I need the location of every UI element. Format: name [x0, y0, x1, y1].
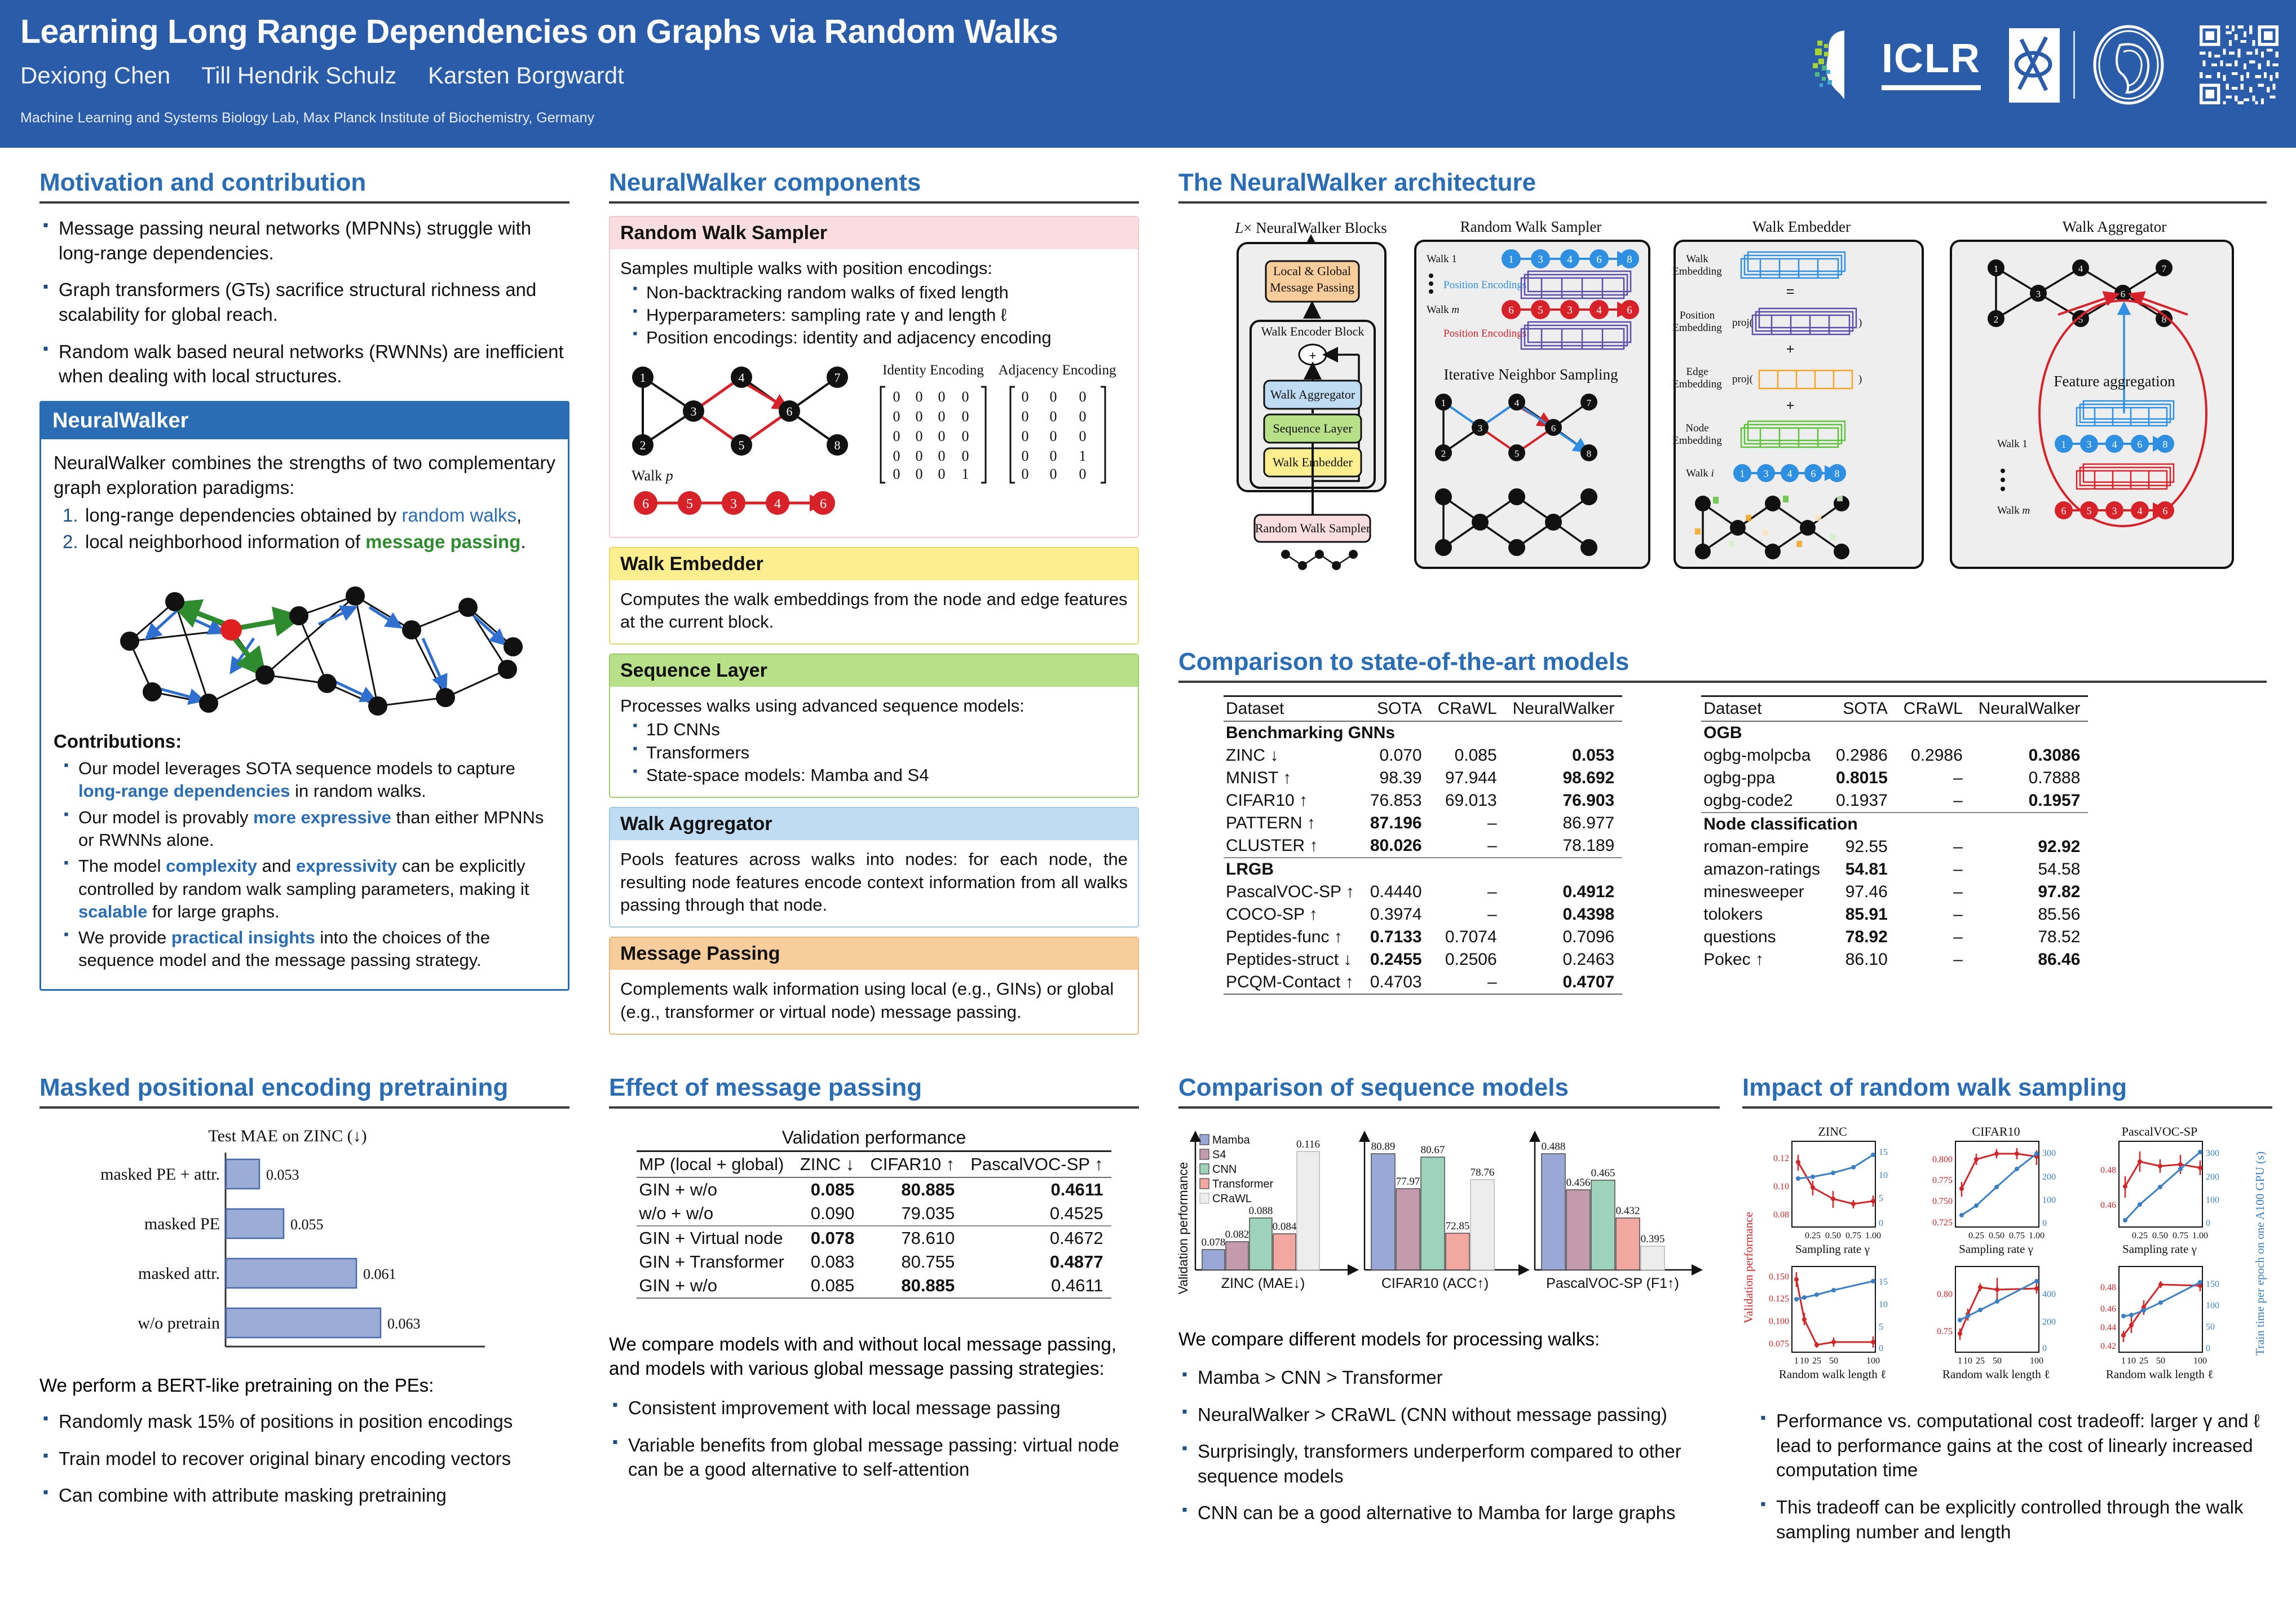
x-axis-label: Random walk length ℓ [1942, 1367, 2050, 1381]
table-row: PascalVOC-SP ↑0.4440–0.4912 [1224, 881, 1622, 903]
x-tick: 1 [1794, 1356, 1799, 1366]
svg-text:proj(: proj( [1732, 317, 1753, 329]
svg-text:6: 6 [1627, 304, 1632, 316]
random-walk-illustration [62, 562, 547, 726]
svg-text:0: 0 [916, 428, 923, 444]
svg-text:Embedding: Embedding [1672, 322, 1722, 334]
svg-text:4: 4 [2112, 439, 2117, 450]
operator-plus-2: + [1786, 398, 1795, 413]
bar-value: 0.053 [266, 1167, 299, 1183]
col-header: SOTA [1362, 696, 1430, 722]
svg-text:1: 1 [2061, 439, 2067, 450]
svg-text:0.42: 0.42 [2100, 1341, 2116, 1351]
x-tick: 25 [1812, 1356, 1821, 1366]
group-header: Node classification [1701, 813, 2088, 836]
x-tick: 1.00 [2029, 1231, 2045, 1241]
architecture-diagram: L× NeuralWalker Blocks Local & Global Me… [1178, 216, 2267, 577]
svg-text:0: 0 [1022, 389, 1029, 405]
svg-text:0: 0 [962, 428, 969, 444]
x-axis-label: ZINC (MAE↓) [1221, 1276, 1305, 1291]
svg-text:8: 8 [1627, 254, 1632, 266]
x-axis-label: Sampling rate γ [1959, 1242, 2033, 1256]
svg-text:3: 3 [2036, 289, 2041, 299]
table-row: Peptides-func ↑0.71330.70740.7096 [1224, 926, 1622, 948]
svg-text:7: 7 [2162, 263, 2167, 274]
chart-panel-cifar-gamma: CIFAR10 0.7250.7500.7750.800 0100200300 [1932, 1124, 2056, 1256]
svg-text:Embedding: Embedding [1672, 378, 1722, 390]
block-label-sequence: Sequence Layer [1273, 421, 1353, 435]
title-rule [609, 1106, 1139, 1109]
svg-text:0: 0 [893, 428, 900, 444]
panel-title-aggregator: Walk Aggregator [2063, 218, 2167, 235]
svg-text:0: 0 [962, 408, 969, 425]
svg-text:8: 8 [834, 438, 841, 452]
svg-text:0: 0 [893, 466, 900, 482]
panel-title: CIFAR10 [1972, 1124, 2020, 1138]
svg-text:0: 0 [2042, 1344, 2047, 1353]
group-header: Benchmarking GNNs [1224, 721, 1622, 744]
svg-text:0.750: 0.750 [1932, 1197, 1953, 1206]
svg-text:5: 5 [686, 497, 693, 511]
bar-label: masked PE [144, 1215, 220, 1233]
component-body: Pools features across walks into nodes: … [610, 840, 1138, 926]
table-row: GIN + Transformer0.08380.7550.4877 [637, 1250, 1111, 1274]
list-item: Transformers [630, 742, 1128, 764]
legend-item: CRaWL [1212, 1193, 1252, 1205]
svg-text:6: 6 [2061, 505, 2067, 517]
col-header: ZINC ↓ [792, 1151, 862, 1178]
x-axis-label: Random walk length ℓ [2106, 1367, 2213, 1381]
list-item: Hyperparameters: sampling rate γ and len… [630, 304, 1128, 326]
panel-subtitle-neighbor-sampling: Iterative Neighbor Sampling [1444, 366, 1618, 383]
author-list: Dexiong Chen Till Hendrik Schulz Karsten… [20, 62, 649, 89]
walk1-label: Walk 1 [1427, 253, 1457, 265]
component-body: Complements walk information using local… [610, 970, 1138, 1034]
col-header: SOTA [1828, 696, 1896, 722]
section-masked-pe: Masked positional encoding pretraining T… [39, 1074, 569, 1520]
bar-value: 77.97 [1396, 1176, 1420, 1188]
block-label-aggregator: Walk Aggregator [1270, 387, 1355, 401]
walk-embedding-label: Walk [1686, 253, 1708, 265]
table-row: roman-empire92.55–92.92 [1701, 836, 2088, 858]
svg-text:0.725: 0.725 [1932, 1218, 1953, 1228]
svg-text:0.48: 0.48 [2100, 1166, 2116, 1175]
svg-text:50: 50 [2206, 1322, 2215, 1332]
table-row: minesweeper97.46–97.82 [1701, 881, 2088, 903]
section-title-sequence-models: Comparison of sequence models [1178, 1074, 1720, 1101]
svg-text:0: 0 [938, 428, 946, 444]
svg-text:100: 100 [2206, 1195, 2219, 1205]
list-item: Mamba > CNN > Transformer [1178, 1365, 1720, 1390]
svg-text:proj(: proj( [1732, 373, 1753, 385]
x-tick: 0.25 [1968, 1231, 1984, 1241]
svg-text:0.48: 0.48 [2100, 1283, 2116, 1292]
svg-text:Embedding: Embedding [1672, 266, 1722, 277]
svg-text:0: 0 [916, 466, 923, 482]
svg-text:7: 7 [1587, 398, 1592, 408]
svg-text:1: 1 [640, 370, 646, 385]
svg-text:0: 0 [1079, 466, 1087, 482]
svg-text:0: 0 [1022, 428, 1029, 444]
svg-text:7: 7 [834, 370, 841, 385]
feature-aggregation-label: Feature aggregation [2054, 373, 2175, 390]
x-axis-label: CIFAR10 (ACC↑) [1381, 1276, 1489, 1291]
walk-i-label: Walk i [1686, 467, 1714, 479]
bar-label: masked PE + attr. [100, 1165, 220, 1184]
svg-text:0: 0 [1050, 466, 1057, 482]
poster-header: Learning Long Range Dependencies on Grap… [0, 0, 2296, 148]
svg-text:4: 4 [1515, 398, 1520, 408]
section-sequence-models: Comparison of sequence models Validation… [1178, 1074, 1720, 1538]
section-title-comparison: Comparison to state-of-the-art models [1178, 648, 2267, 676]
table-row: ogbg-ppa0.8015–0.7888 [1701, 767, 2088, 789]
svg-text:0: 0 [1022, 466, 1029, 482]
svg-text:0.44: 0.44 [2100, 1323, 2116, 1332]
svg-text:0: 0 [962, 389, 969, 405]
section-title-components: NeuralWalker components [609, 169, 1139, 196]
x-tick: 10 [1963, 1356, 1972, 1366]
svg-text:400: 400 [2042, 1290, 2056, 1299]
component-intro: Samples multiple walks with position enc… [620, 257, 1128, 280]
panel-title-embedder: Walk Embedder [1752, 218, 1851, 235]
bar-value: 0.061 [363, 1266, 396, 1282]
x-tick: 0.25 [1805, 1231, 1821, 1241]
list-item: local neighborhood information of messag… [54, 529, 555, 554]
table-row: Peptides-struct ↓0.24550.25060.2463 [1224, 948, 1622, 971]
svg-text:0: 0 [938, 466, 946, 482]
bar-value: 72.85 [1446, 1220, 1470, 1232]
section-title-architecture: The NeuralWalker architecture [1178, 169, 2267, 196]
x-tick: 0.50 [2152, 1231, 2168, 1241]
table-row: MNIST ↑98.3997.94498.692 [1224, 767, 1622, 789]
poster-root: Learning Long Range Dependencies on Grap… [0, 0, 2296, 1624]
svg-text:6: 6 [642, 497, 649, 511]
y-axis-label: Validation performance [1178, 1162, 1190, 1295]
svg-text:6: 6 [820, 497, 827, 511]
svg-text:0: 0 [1050, 389, 1057, 405]
page-title: Learning Long Range Dependencies on Grap… [20, 12, 1058, 51]
svg-text:+: + [1309, 348, 1317, 363]
callout-intro: NeuralWalker combines the strengths of t… [54, 451, 555, 500]
masked-pe-bullets: Randomly mask 15% of positions in positi… [39, 1409, 569, 1508]
neuralwalker-callout: NeuralWalker NeuralWalker combines the s… [39, 401, 569, 991]
svg-text:0.075: 0.075 [1769, 1339, 1789, 1349]
message-passing-bullets: Consistent improvement with local messag… [609, 1396, 1139, 1482]
qr-code-icon [2197, 23, 2281, 107]
x-axis-label: Sampling rate γ [2122, 1242, 2197, 1256]
group-header: OGB [1701, 721, 2088, 744]
table-row: tolokers85.91–85.56 [1701, 903, 2088, 926]
chart-sampling-lines: Validation performance Train time per ep… [1742, 1121, 2272, 1386]
logo-strip: ICLR [1812, 17, 2281, 113]
sampling-bullets: Performance vs. computational cost trade… [1757, 1409, 2272, 1544]
svg-text:200: 200 [2206, 1172, 2219, 1182]
svg-text:0.125: 0.125 [1769, 1294, 1789, 1304]
list-item: The model complexity and expressivity ca… [61, 855, 555, 923]
svg-text:0: 0 [916, 389, 923, 405]
bar-value: 0.084 [1273, 1221, 1297, 1233]
svg-text:3: 3 [2087, 439, 2092, 450]
bar-value: 0.082 [1225, 1229, 1249, 1241]
sequence-models-bullets: Mamba > CNN > Transformer NeuralWalker >… [1178, 1365, 1720, 1525]
contributions-title: Contributions: [54, 729, 555, 754]
legend-item: Transformer [1212, 1178, 1274, 1190]
svg-text:3: 3 [1764, 468, 1769, 479]
svg-text:0.150: 0.150 [1769, 1272, 1789, 1282]
bar-value: 0.078 [1202, 1237, 1226, 1248]
x-axis-label: Random walk length ℓ [1779, 1367, 1886, 1381]
svg-text:0.80: 0.80 [1937, 1290, 1953, 1299]
svg-text:6: 6 [1551, 423, 1556, 434]
affiliation: Machine Learning and Systems Biology Lab… [20, 110, 594, 126]
message-passing-intro: We compare models with and without local… [609, 1332, 1139, 1381]
svg-text:6: 6 [2138, 439, 2143, 450]
svg-text:0: 0 [1079, 408, 1087, 425]
table-row: GIN + Virtual node0.07878.6100.4672 [637, 1226, 1111, 1250]
svg-text:0: 0 [1050, 448, 1057, 464]
section-sampling: Impact of random walk sampling Validatio… [1742, 1074, 2272, 1556]
comparison-table-left: Dataset SOTA CRaWL NeuralWalker Benchmar… [1224, 695, 1622, 995]
component-title: Random Walk Sampler [610, 217, 1138, 249]
svg-text:0: 0 [1050, 428, 1057, 444]
svg-text:0: 0 [1022, 448, 1029, 464]
list-item: Performance vs. computational cost trade… [1757, 1409, 2272, 1482]
svg-text:2: 2 [1994, 314, 1999, 325]
svg-text:5: 5 [1879, 1194, 1883, 1203]
walk-encoder-block-label: Walk Encoder Block [1261, 324, 1365, 338]
svg-text:0: 0 [2206, 1344, 2210, 1353]
legend-item: Mamba [1212, 1134, 1251, 1146]
svg-text:0: 0 [938, 448, 946, 464]
svg-text:0: 0 [1879, 1344, 1883, 1353]
svg-text:6: 6 [1811, 468, 1816, 479]
operator-equals: = [1786, 284, 1795, 299]
title-rule [39, 201, 569, 204]
adjacency-encoding-title: Adjacency Encoding [999, 363, 1116, 378]
component-title: Walk Aggregator [610, 808, 1138, 840]
author-1: Dexiong Chen [20, 62, 170, 89]
table-row: PATTERN ↑87.196–86.977 [1224, 812, 1622, 835]
svg-text:1: 1 [1740, 468, 1745, 479]
bar-value: 0.116 [1296, 1138, 1320, 1150]
table-row: ogbg-code20.1937–0.1957 [1701, 789, 2088, 813]
svg-text:1: 1 [1079, 448, 1087, 464]
mpi-logo [2007, 23, 2171, 107]
x-tick: 100 [2193, 1356, 2207, 1366]
title-rule [609, 201, 1139, 204]
list-item: Our model is provably more expressive th… [61, 806, 555, 852]
chart-panel-zinc-length: 0.0750.1000.1250.150 051015 11025 50100 … [1769, 1266, 1888, 1381]
x-tick: 1 [1958, 1356, 1962, 1366]
svg-text:200: 200 [2042, 1172, 2056, 1182]
component-box-message-passing: Message Passing Complements walk informa… [609, 937, 1139, 1035]
col-header: CRaWL [1896, 696, 1971, 722]
x-axis-label: Sampling rate γ [1795, 1242, 1870, 1256]
operator-plus-1: + [1786, 341, 1795, 357]
svg-text:2: 2 [640, 438, 646, 452]
contributions-list: Our model leverages SOTA sequence models… [61, 757, 555, 972]
table-caption: Validation performance [637, 1126, 1111, 1151]
x-tick: 0.75 [1845, 1231, 1861, 1241]
highlight-random-walks: random walks [401, 505, 516, 526]
component-box-random-walk-sampler: Random Walk Sampler Samples multiple wal… [609, 216, 1139, 537]
sequence-models-intro: We compare different models for processi… [1178, 1327, 1720, 1352]
svg-text:0: 0 [1022, 408, 1029, 425]
svg-text:0: 0 [2042, 1219, 2047, 1228]
svg-text:15: 15 [1879, 1148, 1888, 1157]
callout-title: NeuralWalker [41, 403, 568, 439]
chart-panel-pascalvoc: 0.4880.456 0.4650.432 0.395 PascalVOC-SP… [1535, 1133, 1700, 1291]
list-item: Position encodings: identity and adjacen… [630, 326, 1128, 349]
highlight-message-passing: message passing [365, 531, 520, 552]
list-item: Random walk based neural networks (RWNNs… [39, 339, 569, 389]
svg-text:1: 1 [1994, 263, 1999, 274]
svg-text:5: 5 [2087, 505, 2092, 517]
y-axis-label-right: Train time per epoch on one A100 GPU (s) [2253, 1151, 2267, 1356]
col-header: MP (local + global) [637, 1151, 792, 1178]
svg-text:0.775: 0.775 [1932, 1176, 1953, 1185]
chart-panel-zinc-gamma: ZINC 0.080.100.12 051015 0.250.50 [1773, 1124, 1888, 1256]
walk-label: Walk p [632, 467, 673, 484]
x-tick: 1.00 [1865, 1231, 1881, 1241]
svg-text:0: 0 [2206, 1219, 2210, 1228]
svg-text:0: 0 [893, 448, 900, 464]
section-motivation: Motivation and contribution Message pass… [39, 169, 569, 991]
svg-text:0.08: 0.08 [1773, 1210, 1789, 1220]
chart-masked-pe-bar: Test MAE on ZINC (↓) masked PE + attr. 0… [39, 1121, 569, 1363]
table-row: CIFAR10 ↑76.85369.01376.903 [1224, 789, 1622, 812]
legend-item: S4 [1212, 1149, 1226, 1161]
node-embedding-label: Node [1685, 422, 1708, 434]
svg-text:0.10: 0.10 [1773, 1182, 1789, 1191]
component-box-sequence-layer: Sequence Layer Processes walks using adv… [609, 654, 1139, 798]
component-items: Non-backtracking random walks of fixed l… [630, 281, 1128, 350]
message-passing-table: Validation performance MP (local + globa… [637, 1126, 1111, 1299]
list-item: Consistent improvement with local messag… [609, 1396, 1139, 1420]
svg-text:6: 6 [2163, 505, 2168, 517]
svg-text:4: 4 [1787, 468, 1792, 479]
bar-value: 0.432 [1616, 1205, 1640, 1217]
section-title-message-passing: Effect of message passing [609, 1074, 1139, 1101]
list-item: Our model leverages SOTA sequence models… [61, 757, 555, 803]
list-item: Surprisingly, transformers underperform … [1178, 1439, 1720, 1488]
svg-text:0: 0 [1079, 428, 1087, 444]
bar-label: masked attr. [138, 1264, 220, 1283]
table-row: GIN + w/o0.08580.8850.4611 [637, 1177, 1111, 1202]
list-item: State-space models: Mamba and S4 [630, 764, 1128, 787]
bar-value: 0.488 [1542, 1141, 1566, 1153]
bar-value: 0.055 [290, 1216, 324, 1233]
svg-text:0: 0 [916, 408, 923, 425]
bar-value: 80.67 [1421, 1144, 1445, 1156]
list-item: We provide practical insights into the c… [61, 926, 555, 972]
bar-label: w/o pretrain [138, 1314, 220, 1332]
panel-title-sampler: Random Walk Sampler [1460, 218, 1602, 235]
svg-text:10: 10 [1879, 1171, 1888, 1180]
table-row: questions78.92–78.52 [1701, 926, 2088, 948]
callout-ordered-list: long-range dependencies obtained by rand… [54, 503, 555, 554]
svg-text:300: 300 [2206, 1149, 2219, 1158]
panel-title: ZINC [1818, 1124, 1847, 1138]
svg-text:6: 6 [1596, 254, 1602, 266]
svg-text:3: 3 [2112, 505, 2117, 517]
table-row: amazon-ratings54.81–54.58 [1701, 858, 2088, 881]
list-item: 1D CNNs [630, 718, 1128, 741]
list-item: Variable benefits from global message pa… [609, 1433, 1139, 1482]
svg-text:5: 5 [1515, 448, 1520, 459]
svg-text:0: 0 [938, 408, 946, 425]
svg-text:4: 4 [1567, 254, 1573, 266]
x-tick: 10 [1800, 1356, 1809, 1366]
x-tick: 100 [1866, 1356, 1880, 1366]
bar-value: 0.395 [1641, 1233, 1665, 1245]
svg-text:6: 6 [1508, 304, 1514, 316]
title-rule [1178, 1106, 1720, 1109]
svg-text:4: 4 [1596, 304, 1602, 316]
section-title-masked-pe: Masked positional encoding pretraining [39, 1074, 569, 1101]
list-item: This tradeoff can be explicitly controll… [1757, 1495, 2272, 1544]
author-2: Till Hendrik Schulz [201, 62, 396, 89]
svg-text:Message Passing: Message Passing [1270, 280, 1354, 294]
svg-text:3: 3 [730, 497, 737, 511]
x-tick: 100 [2030, 1356, 2043, 1366]
svg-text:4: 4 [2138, 505, 2143, 517]
bar-value: 78.76 [1471, 1167, 1495, 1179]
svg-text:0.75: 0.75 [1937, 1327, 1953, 1336]
col-header: Dataset [1701, 696, 1828, 722]
svg-text:0: 0 [938, 389, 946, 405]
table-row: COCO-SP ↑0.3974–0.4398 [1224, 903, 1622, 926]
list-item: Graph transformers (GTs) sacrifice struc… [39, 277, 569, 326]
svg-text:0: 0 [1050, 408, 1057, 425]
position-embedding-label: Position [1680, 310, 1715, 321]
comparison-table-right: Dataset SOTA CRaWL NeuralWalker OGB ogbg… [1701, 695, 2088, 971]
iclr-brain-icon [1812, 28, 1874, 101]
svg-text:1: 1 [1508, 254, 1514, 266]
list-item: NeuralWalker > CRaWL (CNN without messag… [1178, 1402, 1720, 1427]
section-title-motivation: Motivation and contribution [39, 169, 569, 196]
svg-text:5: 5 [739, 438, 745, 452]
mpi-emblem-icon [2007, 23, 2062, 107]
title-rule [1178, 201, 2267, 204]
svg-text:3: 3 [1478, 423, 1483, 434]
svg-text:300: 300 [2042, 1149, 2056, 1158]
svg-text:Embedding: Embedding [1672, 435, 1722, 447]
col-header: CRaWL [1430, 696, 1505, 722]
svg-text:8: 8 [1835, 468, 1840, 479]
svg-text:0.100: 0.100 [1769, 1317, 1789, 1326]
svg-text:0: 0 [893, 408, 900, 425]
pe-label-2: Position Encodings [1443, 328, 1526, 339]
section-architecture: The NeuralWalker architecture L× NeuralW… [1178, 169, 2267, 577]
section-comparison: Comparison to state-of-the-art models Da… [1178, 648, 2267, 995]
list-item: Can combine with attribute masking pretr… [39, 1483, 569, 1508]
minerva-head-icon [2086, 23, 2171, 107]
list-item: CNN can be a good alternative to Mamba f… [1178, 1501, 1720, 1525]
x-tick: 0.50 [1825, 1231, 1841, 1241]
blocks-label: L× NeuralWalker Blocks [1234, 219, 1387, 236]
chart-panel-voc-gamma: PascalVOC-SP 0.460.48 0100200300 0.250.5 [2100, 1124, 2219, 1256]
legend-item: CNN [1212, 1163, 1237, 1176]
component-items: 1D CNNs Transformers State-space models:… [630, 718, 1128, 787]
iclr-wordmark: ICLR [1882, 39, 1981, 90]
motivation-bullets: Message passing neural networks (MPNNs) … [39, 216, 569, 388]
svg-text:): ) [1858, 317, 1862, 329]
x-tick: 0.75 [2173, 1231, 2188, 1241]
svg-text:8: 8 [1587, 448, 1592, 459]
table-row: Pokec ↑86.10–86.46 [1701, 948, 2088, 971]
x-axis-label: PascalVOC-SP (F1↑) [1546, 1276, 1679, 1291]
